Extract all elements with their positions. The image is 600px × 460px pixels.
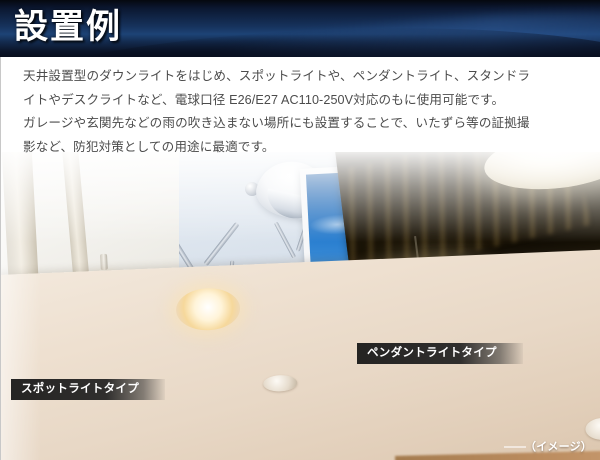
ceiling-fitting — [263, 375, 298, 392]
page-title: 設置例 — [14, 3, 122, 51]
installation-examples-page: 設置例 天井設置型のダウンライトをはじめ、スポットライトや、ペンダントライト、ス… — [0, 0, 600, 460]
lamp-wire-strut — [274, 221, 296, 258]
page-body: 天井設置型のダウンライトをはじめ、スポットライトや、ペンダントライト、スタンドラ… — [0, 57, 600, 460]
page-header-banner: 設置例 — [0, 0, 600, 57]
photo-collage: スポットライトタイプ デスクライトタイプ ペンダントライトタイプ ダウンライトタ… — [1, 152, 600, 460]
intro-line-1: 天井設置型のダウンライトをはじめ、スポットライトや、ペンダントライト、スタンドラ — [23, 65, 583, 89]
lamp-arm-upper — [204, 222, 240, 266]
caption-spotlight: スポットライトタイプ — [11, 379, 165, 400]
image-disclaimer: （イメージ） — [525, 438, 592, 454]
intro-line-4: 影など、防犯対策としての用途に最適です。 — [23, 136, 583, 160]
intro-line-2: イトやデスクライトなど、電球口径 E26/E27 AC110-250V対応のもに… — [23, 89, 583, 113]
image-note-dash — [504, 446, 526, 448]
downlight-fixture-lit — [175, 287, 241, 332]
caption-pendant: ペンダントライトタイプ — [357, 343, 523, 364]
intro-paragraph: 天井設置型のダウンライトをはじめ、スポットライトや、ペンダントライト、スタンドラ… — [23, 65, 583, 159]
intro-line-3: ガレージや玄関先などの雨の吹き込まない場所にも設置することで、いたずら等の証拠撮 — [23, 112, 583, 136]
spotlight-arm — [100, 254, 108, 270]
